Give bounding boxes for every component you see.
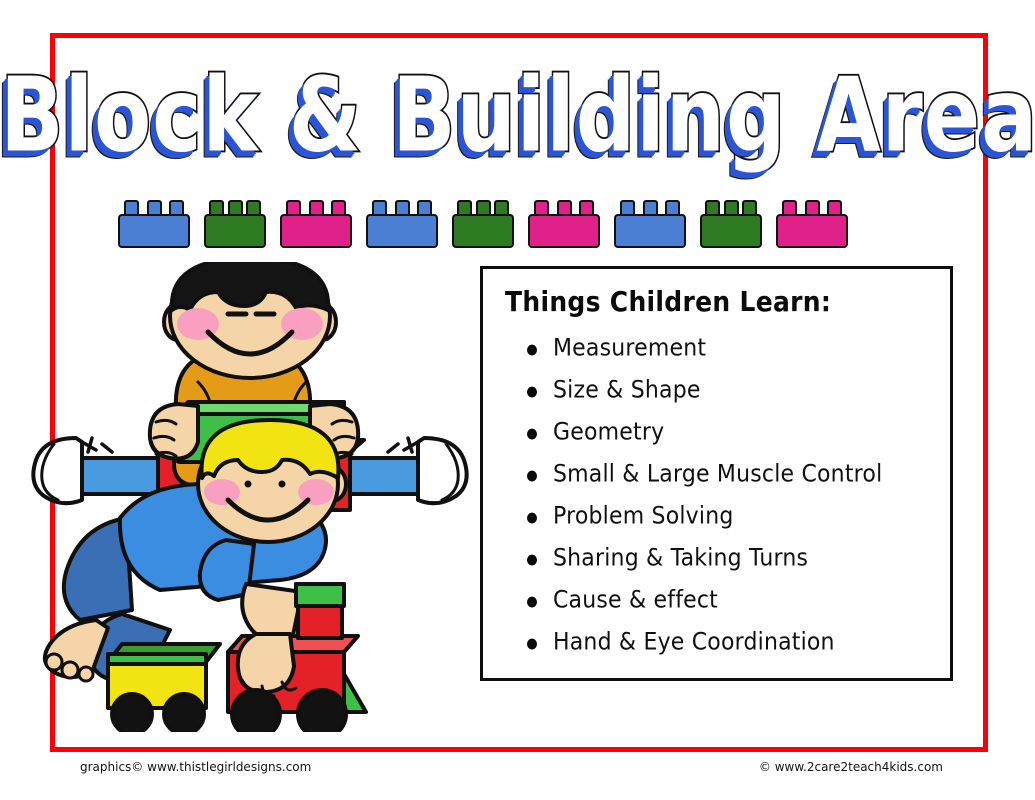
bullet-icon	[527, 597, 537, 608]
lego-block-blue	[118, 200, 190, 248]
bottom-child-head	[198, 420, 346, 542]
learn-list-item-label: Problem Solving	[553, 503, 734, 530]
page-title-container: Block & Building Area	[50, 62, 988, 167]
learn-list-item-label: Cause & effect	[553, 587, 718, 614]
bullet-icon	[527, 555, 537, 566]
lego-block-magenta	[776, 200, 848, 248]
learn-list-item: Sharing & Taking Turns	[527, 536, 934, 581]
lego-body	[528, 214, 600, 248]
learn-list-item-label: Hand & Eye Coordination	[553, 629, 835, 656]
bullet-icon	[527, 639, 537, 650]
learn-list-item: Size & Shape	[527, 368, 934, 413]
bullet-icon	[527, 345, 537, 356]
learn-list-item-label: Sharing & Taking Turns	[553, 545, 808, 572]
top-boy-hair	[172, 262, 328, 310]
learn-list-item: Small & Large Muscle Control	[527, 452, 934, 497]
lego-block-green	[452, 200, 514, 248]
lego-body	[204, 214, 266, 248]
credit-graphics: graphics© www.thistlegirldesigns.com	[80, 760, 311, 774]
top-boy-right-shoe	[418, 438, 467, 503]
lego-body	[452, 214, 514, 248]
bullet-icon	[527, 429, 537, 440]
lego-body	[614, 214, 686, 248]
top-boy-left-shoe	[33, 438, 82, 503]
lego-block-blue	[614, 200, 686, 248]
lego-block-blue	[366, 200, 438, 248]
learn-list-item-label: Small & Large Muscle Control	[553, 461, 882, 488]
bullet-icon	[527, 471, 537, 482]
lego-body	[366, 214, 438, 248]
top-boy-head	[164, 262, 336, 378]
lego-body	[776, 214, 848, 248]
lego-block-green	[204, 200, 266, 248]
bullet-icon	[527, 387, 537, 398]
learn-list: MeasurementSize & ShapeGeometrySmall & L…	[501, 328, 934, 664]
learn-list-item-label: Size & Shape	[553, 377, 701, 404]
lego-block-magenta	[528, 200, 600, 248]
train-green-wedge	[344, 674, 366, 712]
decorative-block-row	[118, 196, 918, 248]
learn-list-item: Geometry	[527, 410, 934, 455]
page-title: Block & Building Area	[0, 58, 1035, 170]
credit-copyright: © www.2care2teach4kids.com	[759, 760, 943, 774]
learn-list-item: Cause & effect	[527, 578, 934, 623]
illustration-children-blocks	[30, 262, 470, 732]
learn-box-heading: Things Children Learn:	[505, 285, 934, 317]
lego-body	[700, 214, 762, 248]
learn-list-item: Measurement	[527, 326, 934, 371]
train-green-block	[296, 584, 344, 606]
lego-body	[118, 214, 190, 248]
learn-list-item: Problem Solving	[527, 494, 934, 539]
bullet-icon	[527, 513, 537, 524]
things-children-learn-box: Things Children Learn: MeasurementSize &…	[480, 266, 953, 681]
learn-list-item-label: Geometry	[553, 419, 664, 446]
learn-list-item-label: Measurement	[553, 335, 706, 362]
lego-block-magenta	[280, 200, 352, 248]
lego-body	[280, 214, 352, 248]
lego-block-green	[700, 200, 762, 248]
learn-list-item: Hand & Eye Coordination	[527, 620, 934, 665]
